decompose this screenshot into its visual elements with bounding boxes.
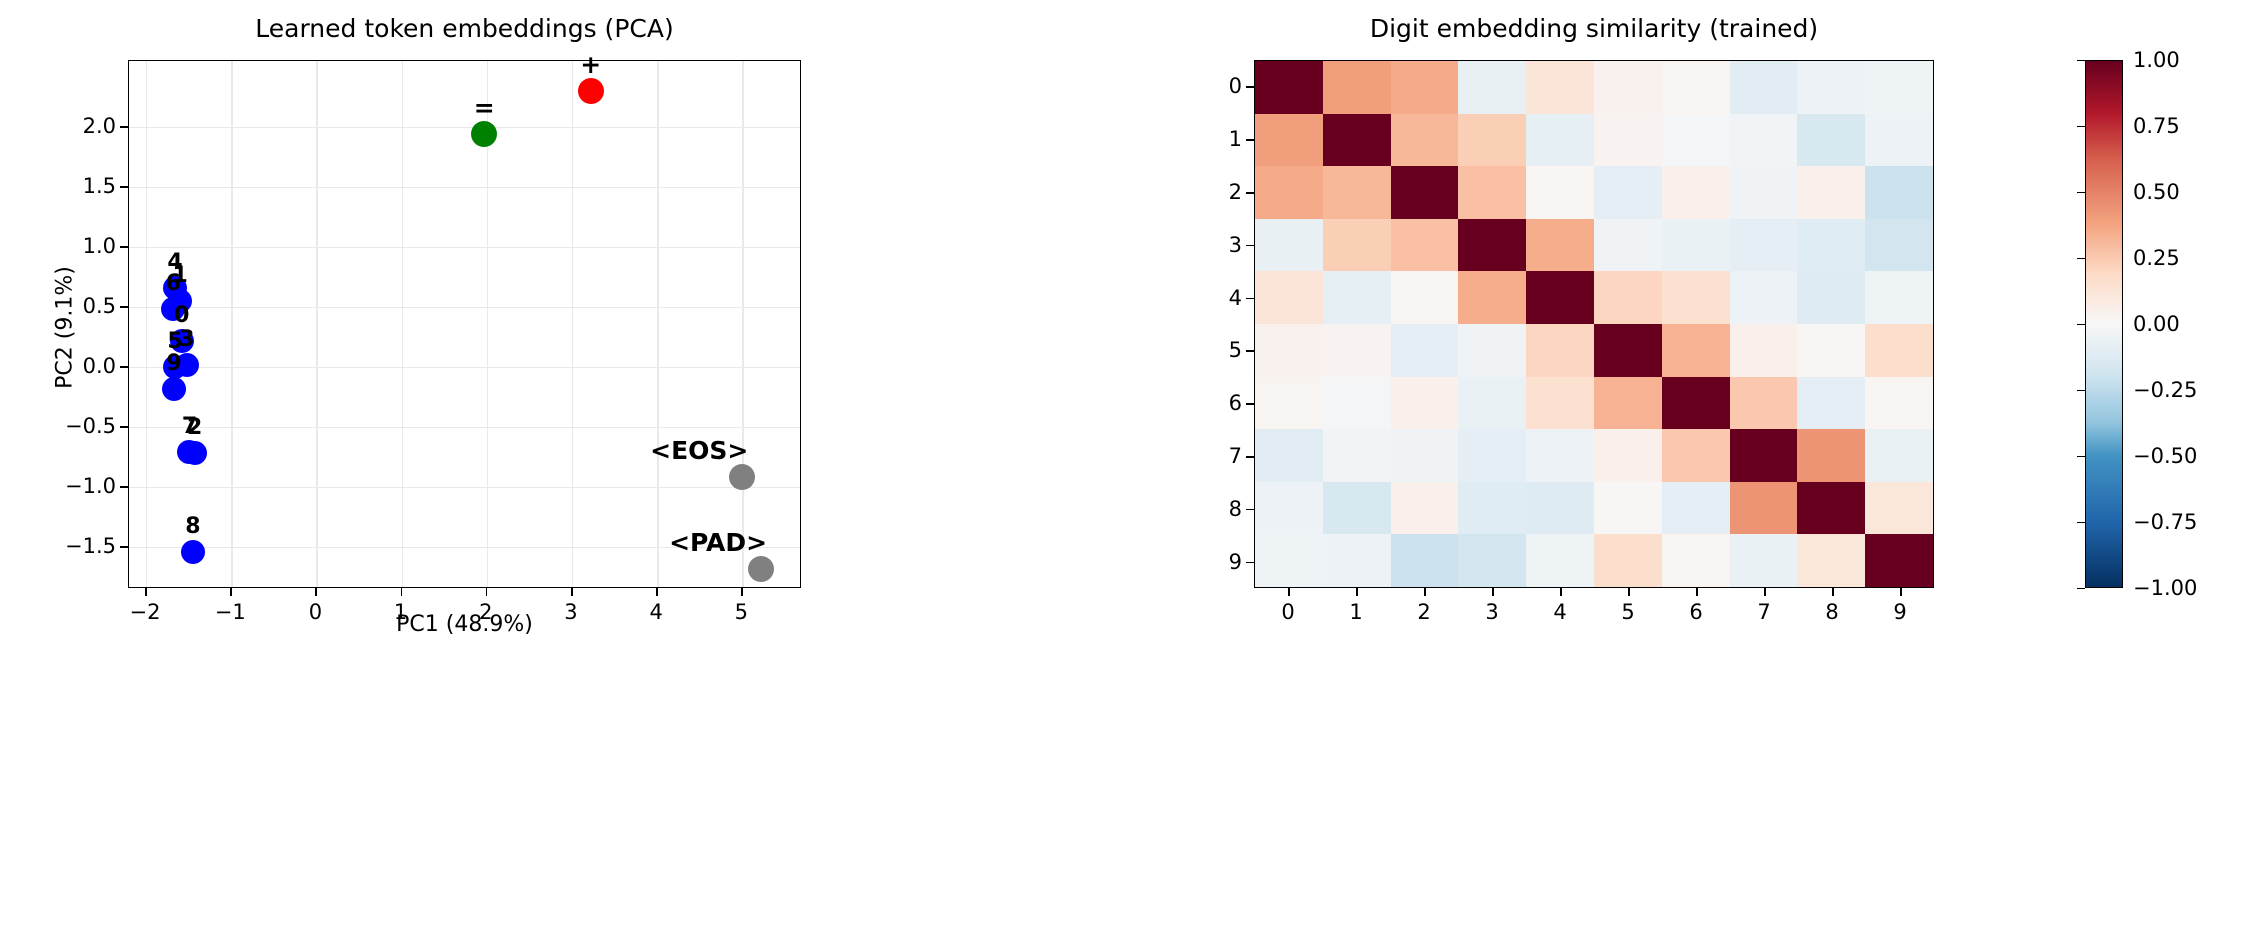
pca-point: [183, 441, 207, 465]
heatmap-cell: [1865, 219, 1933, 272]
pca-point-label: <PAD>: [669, 530, 767, 555]
heatmap-cell: [1391, 61, 1459, 114]
pca-y-tick-label: 1.5: [44, 174, 116, 198]
heatmap-cell: [1865, 271, 1933, 324]
pca-y-tickmark: [120, 126, 128, 128]
pca-gridline-v: [402, 61, 403, 587]
heatmap-cell: [1594, 61, 1662, 114]
heatmap-cell: [1662, 61, 1730, 114]
heatmap-cell: [1662, 534, 1730, 587]
heatmap-cell: [1730, 377, 1798, 430]
colorbar-tick-label: 0.00: [2133, 312, 2180, 336]
heatmap-cell: [1662, 429, 1730, 482]
pca-scatter-panel: Learned token embeddings (PCA) 461035972…: [0, 0, 1120, 940]
heatmap-cell: [1323, 482, 1391, 535]
heatmap-cell: [1255, 61, 1323, 114]
pca-point: [729, 464, 755, 490]
heatmap-cell: [1526, 114, 1594, 167]
heatmap-cell: [1797, 429, 1865, 482]
heatmap-cell: [1865, 324, 1933, 377]
pca-y-tickmark: [120, 306, 128, 308]
heatmap-cell: [1323, 534, 1391, 587]
colorbar-tickmark: [2077, 456, 2085, 457]
heatmap-cell: [1865, 482, 1933, 535]
heatmap-cell: [1323, 114, 1391, 167]
colorbar-tickmark: [2077, 126, 2085, 127]
heatmap-cell: [1391, 324, 1459, 377]
heatmap-y-tick-label: 3: [1200, 233, 1242, 257]
pca-x-tickmark: [145, 588, 147, 596]
colorbar-tick-label: −1.00: [2133, 576, 2197, 600]
heatmap-y-tickmark: [1246, 139, 1254, 141]
heatmap-y-tick-label: 4: [1200, 286, 1242, 310]
heatmap-cell: [1865, 429, 1933, 482]
heatmap-y-tickmark: [1246, 403, 1254, 405]
heatmap-cell: [1458, 324, 1526, 377]
heatmap-cell: [1730, 324, 1798, 377]
pca-point-label: 8: [185, 516, 200, 538]
heatmap-cell: [1391, 271, 1459, 324]
pca-x-tickmark: [401, 588, 403, 596]
heatmap-x-tick-label: 6: [1689, 600, 1702, 624]
pca-y-tickmark: [120, 546, 128, 548]
heatmap-cell: [1526, 324, 1594, 377]
heatmap-cell: [1526, 377, 1594, 430]
heatmap-cell: [1797, 271, 1865, 324]
pca-gridline-h: [129, 127, 800, 128]
heatmap-cell: [1865, 114, 1933, 167]
colorbar-tickmark: [2077, 60, 2085, 61]
heatmap-y-tickmark: [1246, 86, 1254, 88]
heatmap-cell: [1797, 114, 1865, 167]
heatmap-cell: [1391, 482, 1459, 535]
heatmap-x-tickmark: [1696, 588, 1698, 596]
heatmap-cell: [1458, 377, 1526, 430]
heatmap-cell: [1662, 166, 1730, 219]
heatmap-x-tickmark: [1900, 588, 1902, 596]
heatmap-y-tick-label: 7: [1200, 444, 1242, 468]
pca-point-label: 0: [174, 305, 189, 327]
heatmap-cell: [1797, 166, 1865, 219]
heatmap-cell: [1594, 377, 1662, 430]
pca-y-tickmark: [120, 186, 128, 188]
heatmap-cell: [1255, 377, 1323, 430]
colorbar-tickmark: [2077, 258, 2085, 259]
heatmap-y-tick-label: 8: [1200, 497, 1242, 521]
heatmap-cell: [1730, 534, 1798, 587]
heatmap-cell: [1391, 166, 1459, 219]
heatmap-cell: [1594, 482, 1662, 535]
heatmap-cell: [1255, 534, 1323, 587]
heatmap-cell: [1526, 271, 1594, 324]
pca-gridline-h: [129, 187, 800, 188]
heatmap-cell: [1255, 429, 1323, 482]
pca-gridline-v: [146, 61, 147, 587]
pca-y-tickmark: [120, 486, 128, 488]
heatmap-x-tickmark: [1764, 588, 1766, 596]
heatmap-x-tickmark: [1560, 588, 1562, 596]
heatmap-cell: [1458, 219, 1526, 272]
heatmap-y-tickmark: [1246, 350, 1254, 352]
pca-point: [578, 78, 604, 104]
heatmap-cell: [1865, 534, 1933, 587]
heatmap-cell: [1458, 482, 1526, 535]
pca-x-tickmark: [230, 588, 232, 596]
heatmap-cell: [1865, 377, 1933, 430]
pca-gridline-h: [129, 307, 800, 308]
heatmap-x-tick-label: 5: [1621, 600, 1634, 624]
pca-x-tickmark: [486, 588, 488, 596]
pca-plot-area: 4610359728+=<EOS><PAD>: [128, 60, 801, 588]
heatmap-cell: [1526, 482, 1594, 535]
heatmap-cell: [1662, 482, 1730, 535]
heatmap-cell: [1458, 429, 1526, 482]
heatmap-y-tickmark: [1246, 298, 1254, 300]
heatmap-cell: [1526, 534, 1594, 587]
heatmap-cell: [1323, 61, 1391, 114]
pca-point: [748, 556, 774, 582]
heatmap-cell: [1323, 324, 1391, 377]
heatmap-cell: [1730, 219, 1798, 272]
heatmap-cell: [1594, 324, 1662, 377]
pca-gridline-v: [231, 61, 232, 587]
heatmap-y-tick-label: 0: [1200, 74, 1242, 98]
heatmap-grid: [1254, 60, 1934, 588]
pca-point: [162, 377, 186, 401]
heatmap-cell: [1730, 429, 1798, 482]
heatmap-x-tickmark: [1356, 588, 1358, 596]
pca-gridline-v: [316, 61, 317, 587]
colorbar-tickmark: [2077, 588, 2085, 589]
pca-chart-title: Learned token embeddings (PCA): [128, 14, 801, 43]
heatmap-x-tick-label: 9: [1893, 600, 1906, 624]
colorbar-tickmark: [2077, 390, 2085, 391]
heatmap-cell: [1594, 219, 1662, 272]
heatmap-x-tick-label: 2: [1417, 600, 1430, 624]
heatmap-y-tick-label: 1: [1200, 127, 1242, 151]
heatmap-cell: [1255, 219, 1323, 272]
pca-x-tickmark: [571, 588, 573, 596]
pca-point: [471, 121, 497, 147]
pca-point-label: 2: [187, 417, 202, 439]
heatmap-y-tickmark: [1246, 192, 1254, 194]
heatmap-cell: [1323, 166, 1391, 219]
heatmap-cell: [1255, 166, 1323, 219]
heatmap-cell: [1526, 429, 1594, 482]
heatmap-cell: [1526, 219, 1594, 272]
pca-gridline-v: [657, 61, 658, 587]
heatmap-cell: [1662, 377, 1730, 430]
pca-point-label: +: [580, 52, 601, 77]
pca-x-tickmark: [741, 588, 743, 596]
pca-gridline-v: [572, 61, 573, 587]
pca-point-label: 1: [172, 265, 187, 287]
pca-point: [181, 540, 205, 564]
pca-gridline-h: [129, 247, 800, 248]
heatmap-cell: [1323, 377, 1391, 430]
heatmap-y-tick-label: 6: [1200, 391, 1242, 415]
colorbar-tickmark: [2077, 522, 2085, 523]
heatmap-cell: [1391, 534, 1459, 587]
heatmap-cell: [1255, 114, 1323, 167]
heatmap-x-tick-label: 4: [1553, 600, 1566, 624]
heatmap-cell: [1458, 271, 1526, 324]
heatmap-cell: [1391, 219, 1459, 272]
pca-y-axis-label: PC2 (9.1%): [53, 218, 78, 438]
heatmap-cell: [1594, 114, 1662, 167]
heatmap-cell: [1662, 114, 1730, 167]
heatmap-cell: [1526, 166, 1594, 219]
heatmap-x-tickmark: [1628, 588, 1630, 596]
heatmap-x-tick-label: 7: [1757, 600, 1770, 624]
pca-y-tick-label: 2.0: [44, 114, 116, 138]
pca-point-label: 9: [166, 353, 181, 375]
pca-gridline-v: [742, 61, 743, 587]
pca-point-label: <EOS>: [650, 438, 748, 463]
heatmap-cell: [1323, 219, 1391, 272]
heatmap-cell: [1730, 61, 1798, 114]
heatmap-x-tick-label: 1: [1349, 600, 1362, 624]
colorbar-tick-label: 0.50: [2133, 180, 2180, 204]
heatmap-cell: [1865, 61, 1933, 114]
heatmap-cell: [1323, 429, 1391, 482]
heatmap-cell: [1662, 324, 1730, 377]
heatmap-x-tickmark: [1832, 588, 1834, 596]
pca-gridline-h: [129, 427, 800, 428]
figure-canvas: Learned token embeddings (PCA) 461035972…: [0, 0, 2256, 940]
colorbar-tick-label: −0.50: [2133, 444, 2197, 468]
heatmap-cell: [1526, 61, 1594, 114]
colorbar-tick-label: −0.25: [2133, 378, 2197, 402]
heatmap-chart-title: Digit embedding similarity (trained): [1254, 14, 1934, 43]
heatmap-cell: [1458, 114, 1526, 167]
pca-y-tickmark: [120, 426, 128, 428]
heatmap-y-tickmark: [1246, 509, 1254, 511]
heatmap-cell: [1594, 166, 1662, 219]
colorbar-tick-label: −0.75: [2133, 510, 2197, 534]
pca-y-tick-label: −1.5: [44, 534, 116, 558]
heatmap-cell: [1391, 429, 1459, 482]
heatmap-cell: [1797, 219, 1865, 272]
colorbar-gradient: [2085, 60, 2123, 588]
pca-point-label: =: [474, 95, 495, 120]
heatmap-cell: [1797, 534, 1865, 587]
heatmap-cell: [1797, 324, 1865, 377]
heatmap-cell: [1730, 114, 1798, 167]
heatmap-cell: [1255, 482, 1323, 535]
colorbar-tickmark: [2077, 192, 2085, 193]
heatmap-cell: [1323, 271, 1391, 324]
colorbar-tick-label: 0.25: [2133, 246, 2180, 270]
heatmap-y-tickmark: [1246, 562, 1254, 564]
heatmap-cell: [1730, 271, 1798, 324]
pca-x-axis-label: PC1 (48.9%): [128, 612, 801, 637]
pca-y-tickmark: [120, 246, 128, 248]
heatmap-cell: [1458, 534, 1526, 587]
similarity-heatmap-panel: Digit embedding similarity (trained) 012…: [1120, 0, 2256, 940]
heatmap-y-tick-label: 9: [1200, 550, 1242, 574]
heatmap-x-tickmark: [1492, 588, 1494, 596]
heatmap-x-tick-label: 8: [1825, 600, 1838, 624]
pca-gridline-h: [129, 367, 800, 368]
heatmap-cell: [1797, 482, 1865, 535]
pca-y-tickmark: [120, 366, 128, 368]
heatmap-cell: [1391, 377, 1459, 430]
heatmap-x-tick-label: 0: [1281, 600, 1294, 624]
heatmap-cell: [1594, 534, 1662, 587]
heatmap-cell: [1255, 324, 1323, 377]
heatmap-cell: [1730, 166, 1798, 219]
heatmap-cell: [1594, 429, 1662, 482]
heatmap-y-tick-label: 5: [1200, 338, 1242, 362]
pca-y-tick-label: −1.0: [44, 474, 116, 498]
heatmap-cell: [1797, 61, 1865, 114]
heatmap-cell: [1662, 271, 1730, 324]
heatmap-x-tickmark: [1424, 588, 1426, 596]
heatmap-y-tick-label: 2: [1200, 180, 1242, 204]
pca-x-tickmark: [315, 588, 317, 596]
heatmap-cell: [1865, 166, 1933, 219]
heatmap-y-tickmark: [1246, 245, 1254, 247]
heatmap-cell: [1594, 271, 1662, 324]
colorbar-tickmark: [2077, 324, 2085, 325]
heatmap-x-tickmark: [1288, 588, 1290, 596]
heatmap-cell: [1458, 166, 1526, 219]
pca-x-tickmark: [656, 588, 658, 596]
heatmap-y-tickmark: [1246, 456, 1254, 458]
heatmap-cell: [1730, 482, 1798, 535]
heatmap-cell: [1255, 271, 1323, 324]
heatmap-cell: [1391, 114, 1459, 167]
heatmap-x-tick-label: 3: [1485, 600, 1498, 624]
heatmap-cell: [1797, 377, 1865, 430]
colorbar-tick-label: 1.00: [2133, 48, 2180, 72]
pca-gridline-h: [129, 487, 800, 488]
heatmap-cell: [1458, 61, 1526, 114]
heatmap-cell: [1662, 219, 1730, 272]
colorbar-tick-label: 0.75: [2133, 114, 2180, 138]
